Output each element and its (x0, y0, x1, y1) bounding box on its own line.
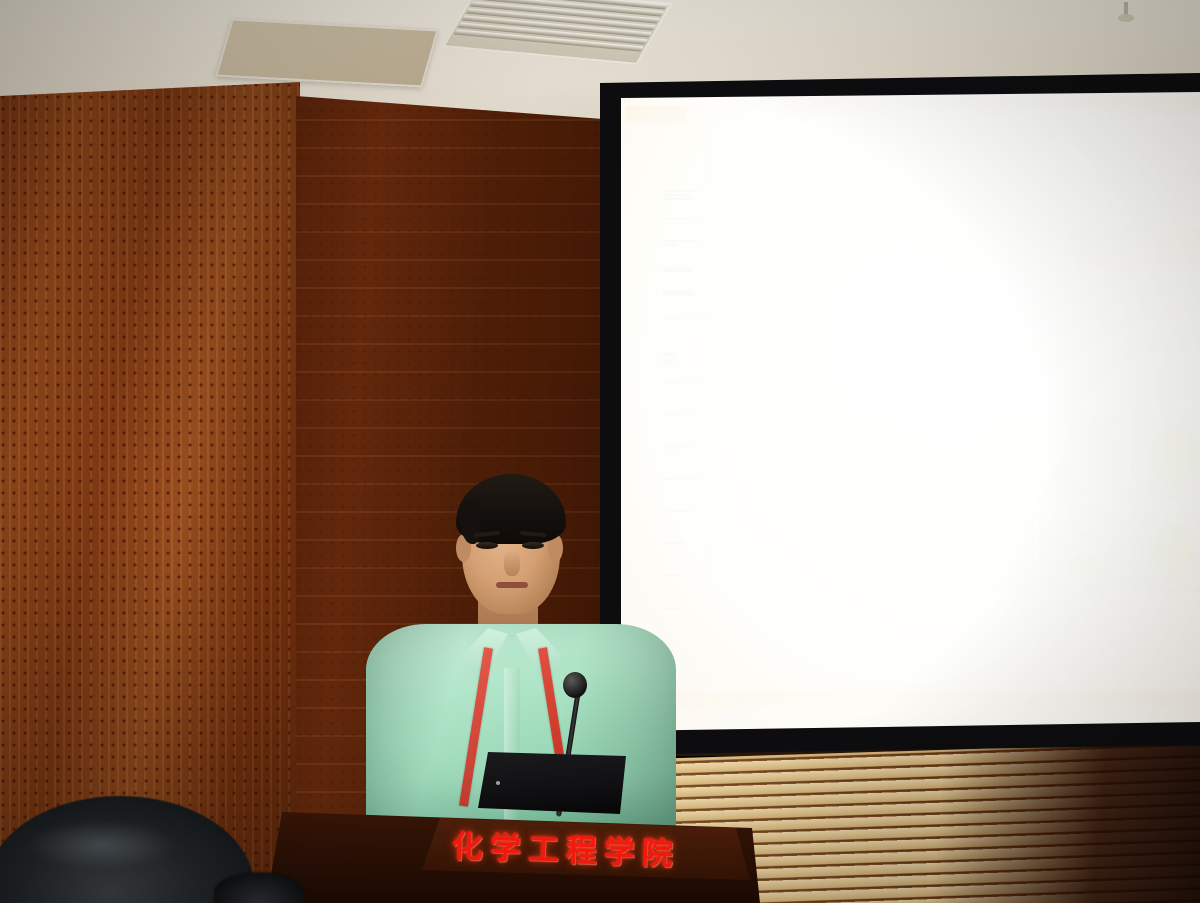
caption-right: Blank (925, 585, 940, 591)
list-item[interactable] (663, 190, 711, 200)
laptop-indicator-light (496, 781, 500, 785)
plate-caption: 0 h Blank (859, 493, 940, 499)
status-bar-right: 备注 68% (1150, 695, 1192, 706)
plate-caption: 1 h (950, 585, 1031, 591)
spellcheck-icon[interactable]: ✎ (714, 696, 721, 705)
wall-panel-left (0, 82, 300, 903)
figure-molecular-schematic: a (849, 288, 1200, 392)
presentation-photo: 💾 开始 插入 设计 切换 动画 幻灯片放映 审阅 视图 文件 (0, 0, 1200, 903)
plate-cell: 2 h (1039, 414, 1124, 500)
fluorescence-spot (1061, 422, 1103, 450)
fluorescence-spot (1150, 524, 1196, 572)
fluorescence-spot (974, 522, 1006, 540)
fluorescence-spot (873, 528, 925, 578)
caption-left: 2 h (1041, 585, 1049, 591)
plate-cell: 2 h (1039, 506, 1124, 592)
host-core (893, 326, 925, 354)
plate-caption: 4 h (1132, 585, 1200, 591)
page-title: Macromolecular complex (939, 240, 1200, 256)
list-item[interactable] (663, 446, 711, 452)
perforation-texture (0, 82, 300, 903)
plate-sub-label: 365 nm (859, 517, 883, 524)
plate-caption: 0 h Blank (859, 585, 940, 591)
caption-left: 2 h (1041, 493, 1049, 499)
list-item[interactable] (663, 318, 711, 320)
caption-left: 0 h (859, 493, 867, 499)
plate-caption: 2 h (1041, 493, 1122, 499)
plate-row-label: After printing (859, 507, 910, 516)
plate-cell: 4 h (1130, 414, 1200, 500)
list-item[interactable] (663, 352, 711, 364)
plate-cell: 4 h (1130, 506, 1200, 592)
figure-tag-c: c (853, 404, 857, 411)
hair (456, 474, 566, 544)
fluorescence-spot (1148, 426, 1198, 484)
list-item[interactable] (663, 290, 711, 296)
list-item[interactable] (663, 268, 711, 272)
assembly-network-icon (1092, 290, 1200, 390)
fluorescence-spot (970, 424, 1010, 450)
plate-caption: 2 h (1041, 585, 1122, 591)
plate-row-label: Before printing (859, 415, 916, 424)
plate-cell: Before printing 365 nm 0 h Blank (857, 414, 942, 500)
caption-left: 1 h (950, 585, 958, 591)
nose (504, 550, 520, 576)
laptop[interactable] (478, 752, 626, 814)
fluorescence-spot (970, 554, 1012, 580)
plate-cell: 1 h (948, 414, 1033, 500)
caption-left: 0 h (859, 585, 867, 591)
mouth (496, 582, 528, 588)
fluorescence-spot (1065, 524, 1099, 544)
microphone-icon (563, 672, 587, 698)
caption-right: Blank (925, 493, 940, 499)
guest-core (1011, 326, 1041, 354)
zoom-level-label[interactable]: 68% (1176, 696, 1192, 705)
status-bar[interactable]: 第 12 张 办公主题 ✎ 中文(中国) 备注 68% (621, 691, 1200, 709)
list-item[interactable] (663, 218, 711, 224)
caption-left: 4 h (1132, 493, 1140, 499)
fluorescence-plate-grid: Before printing 365 nm 0 h Blank 1 h (857, 414, 1200, 592)
eye-right (522, 542, 544, 549)
fluorescence-spot (1061, 552, 1103, 578)
list-item[interactable] (663, 240, 711, 246)
plate-cell: 1 h (948, 506, 1033, 592)
plate-sub-label: 365 nm (859, 425, 883, 432)
eye-left (476, 542, 498, 549)
language-label[interactable]: 中文(中国) (733, 695, 770, 706)
fluorescence-spot (1059, 456, 1105, 486)
figure-tag-a: a (849, 290, 853, 297)
caption-left: 1 h (950, 493, 958, 499)
list-item[interactable] (663, 382, 711, 384)
tab-file[interactable]: 文件 (625, 106, 687, 124)
caption-left: 4 h (1132, 585, 1140, 591)
notes-button[interactable]: 备注 (1150, 695, 1166, 706)
audience-head-highlight (26, 820, 176, 870)
fluorescence-spot (867, 430, 931, 490)
fluorescence-spot (968, 458, 1012, 486)
list-item[interactable] (663, 414, 711, 416)
projection-screen[interactable]: 💾 开始 插入 设计 切换 动画 幻灯片放映 审阅 视图 文件 (621, 92, 1200, 731)
plate-caption: 4 h (1132, 493, 1200, 499)
ribbon-tabs-label[interactable]: 开始 插入 设计 切换 动画 幻灯片放映 审阅 视图 (851, 98, 1200, 112)
plate-caption: 1 h (950, 493, 1031, 499)
plate-cell: After printing 365 nm 0 h Blank (857, 506, 942, 592)
